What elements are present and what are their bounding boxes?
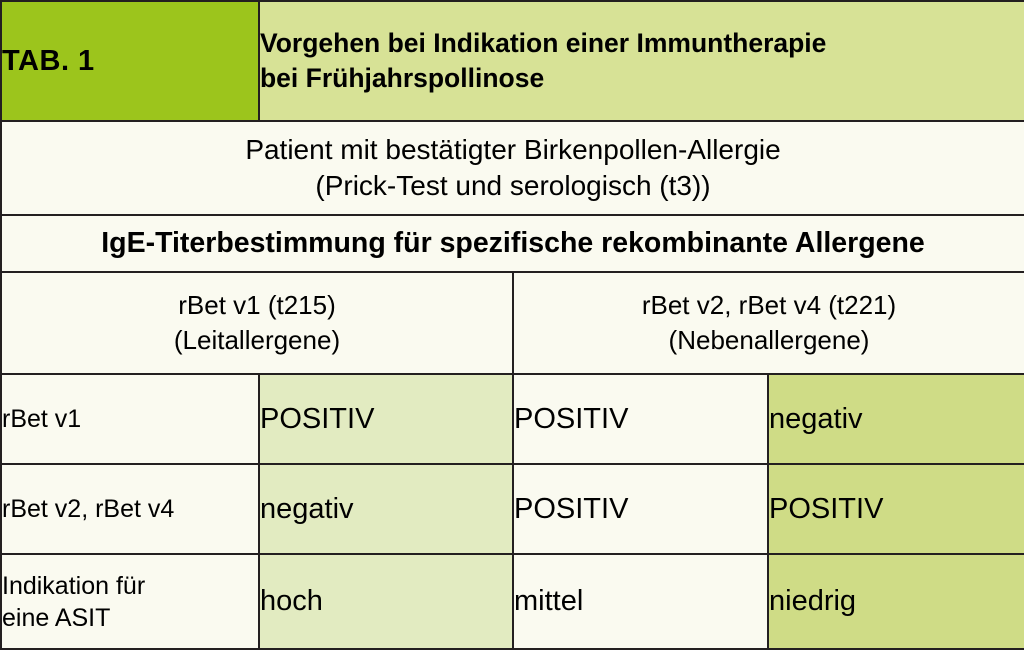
patient-line-2: (Prick-Test und serologisch (t3)) — [2, 168, 1024, 204]
table-container: TAB. 1 Vorgehen bei Indikation einer Imm… — [0, 0, 1024, 637]
row-label-line: rBet v1 — [2, 403, 258, 435]
row-label-rbet-v2-v4: rBet v2, rBet v4 — [1, 464, 259, 554]
table-number-badge: TAB. 1 — [1, 1, 259, 121]
ige-banner: IgE-Titerbestimmung für spezifische reko… — [1, 215, 1024, 272]
allergen-group-2-name: rBet v2, rBet v4 (t221) — [514, 288, 1024, 323]
table-row: rBet v2, rBet v4 negativ POSITIV POSITIV — [1, 464, 1024, 554]
patient-description: Patient mit bestätigter Birkenpollen-All… — [1, 121, 1024, 215]
allergen-group-1-sub: (Leitallergene) — [2, 323, 512, 358]
ige-banner-row: IgE-Titerbestimmung für spezifische reko… — [1, 215, 1024, 272]
row-label-line-1: Indikation für — [2, 570, 258, 602]
allergen-group-leitallergene: rBet v1 (t215) (Leitallergene) — [1, 272, 513, 374]
cell-rbet-v1-col1: POSITIV — [259, 374, 513, 464]
allergen-group-nebenallergene: rBet v2, rBet v4 (t221) (Nebenallergene) — [513, 272, 1024, 374]
patient-line-1: Patient mit bestätigter Birkenpollen-All… — [2, 132, 1024, 168]
table-header-row: TAB. 1 Vorgehen bei Indikation einer Imm… — [1, 1, 1024, 121]
cell-rbet-v2-v4-col2: POSITIV — [513, 464, 768, 554]
cell-rbet-v2-v4-col1: negativ — [259, 464, 513, 554]
row-label-line: rBet v2, rBet v4 — [2, 493, 258, 525]
patient-row: Patient mit bestätigter Birkenpollen-All… — [1, 121, 1024, 215]
allergen-group-row: rBet v1 (t215) (Leitallergene) rBet v2, … — [1, 272, 1024, 374]
cell-asit-col3: niedrig — [768, 554, 1024, 649]
row-label-rbet-v1: rBet v1 — [1, 374, 259, 464]
cell-asit-col2: mittel — [513, 554, 768, 649]
cell-rbet-v2-v4-col3: POSITIV — [768, 464, 1024, 554]
immunotherapy-indication-table: TAB. 1 Vorgehen bei Indikation einer Imm… — [0, 0, 1024, 650]
table-title-line-1: Vorgehen bei Indikation einer Immunthera… — [260, 26, 1024, 61]
cell-rbet-v1-col3: negativ — [768, 374, 1024, 464]
table-title: Vorgehen bei Indikation einer Immunthera… — [259, 1, 1024, 121]
allergen-group-1-name: rBet v1 (t215) — [2, 288, 512, 323]
table-title-line-2: bei Frühjahrspollinose — [260, 61, 1024, 96]
table-row: rBet v1 POSITIV POSITIV negativ — [1, 374, 1024, 464]
row-label-line-2: eine ASIT — [2, 602, 258, 634]
allergen-group-2-sub: (Nebenallergene) — [514, 323, 1024, 358]
cell-rbet-v1-col2: POSITIV — [513, 374, 768, 464]
table-row: Indikation für eine ASIT hoch mittel nie… — [1, 554, 1024, 649]
cell-asit-col1: hoch — [259, 554, 513, 649]
row-label-asit-indication: Indikation für eine ASIT — [1, 554, 259, 649]
